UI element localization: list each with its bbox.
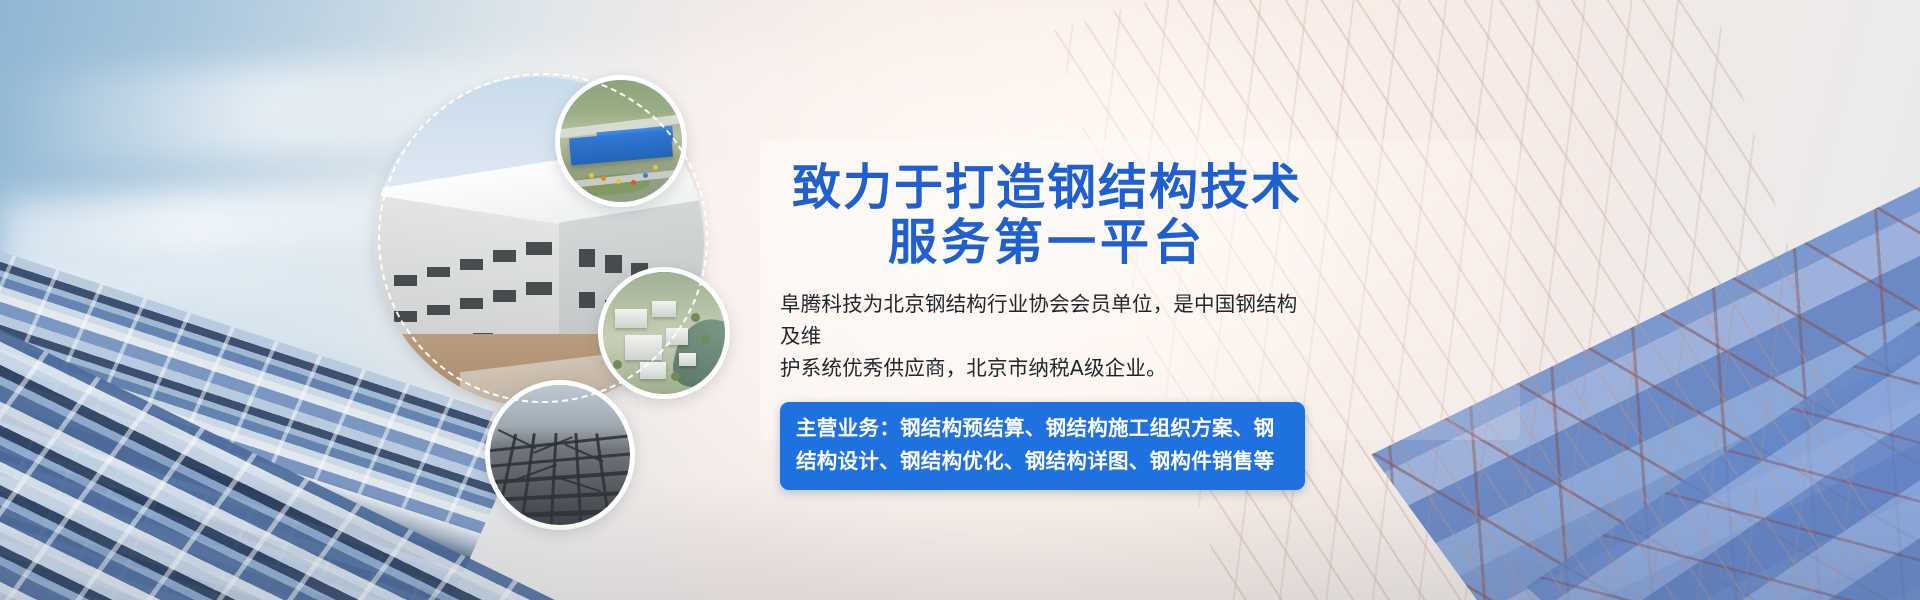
text-block: 致力于打造钢结构技术 服务第一平台 阜腾科技为北京钢结构行业协会会员单位，是中国… xyxy=(760,160,1560,490)
business-scope-line-1: 主营业务：钢结构预结算、钢结构施工组织方案、钢 xyxy=(796,412,1289,445)
lede-line-2: 护系统优秀供应商，北京市纳税A级企业。 xyxy=(780,352,1305,384)
photo-cluster xyxy=(350,55,820,555)
headline-line-2: 服务第一平台 xyxy=(782,215,1312,270)
hero-banner: 致力于打造钢结构技术 服务第一平台 阜腾科技为北京钢结构行业协会会员单位，是中国… xyxy=(0,0,1920,600)
lede-paragraph: 阜腾科技为北京钢结构行业协会会员单位，是中国钢结构及维 护系统优秀供应商，北京市… xyxy=(780,288,1305,384)
lede-line-1: 阜腾科技为北京钢结构行业协会会员单位，是中国钢结构及维 xyxy=(780,288,1305,352)
business-scope-box[interactable]: 主营业务：钢结构预结算、钢结构施工组织方案、钢 结构设计、钢结构优化、钢结构详图… xyxy=(780,402,1305,490)
aerial-blue-roof-plant-photo xyxy=(555,75,687,207)
business-scope-line-2: 结构设计、钢结构优化、钢结构详图、钢构件销售等 xyxy=(796,445,1289,478)
steel-truss-roof-photo xyxy=(485,380,635,530)
headline-line-1: 致力于打造钢结构技术 xyxy=(782,160,1312,215)
aerial-campus-photo xyxy=(598,267,730,399)
